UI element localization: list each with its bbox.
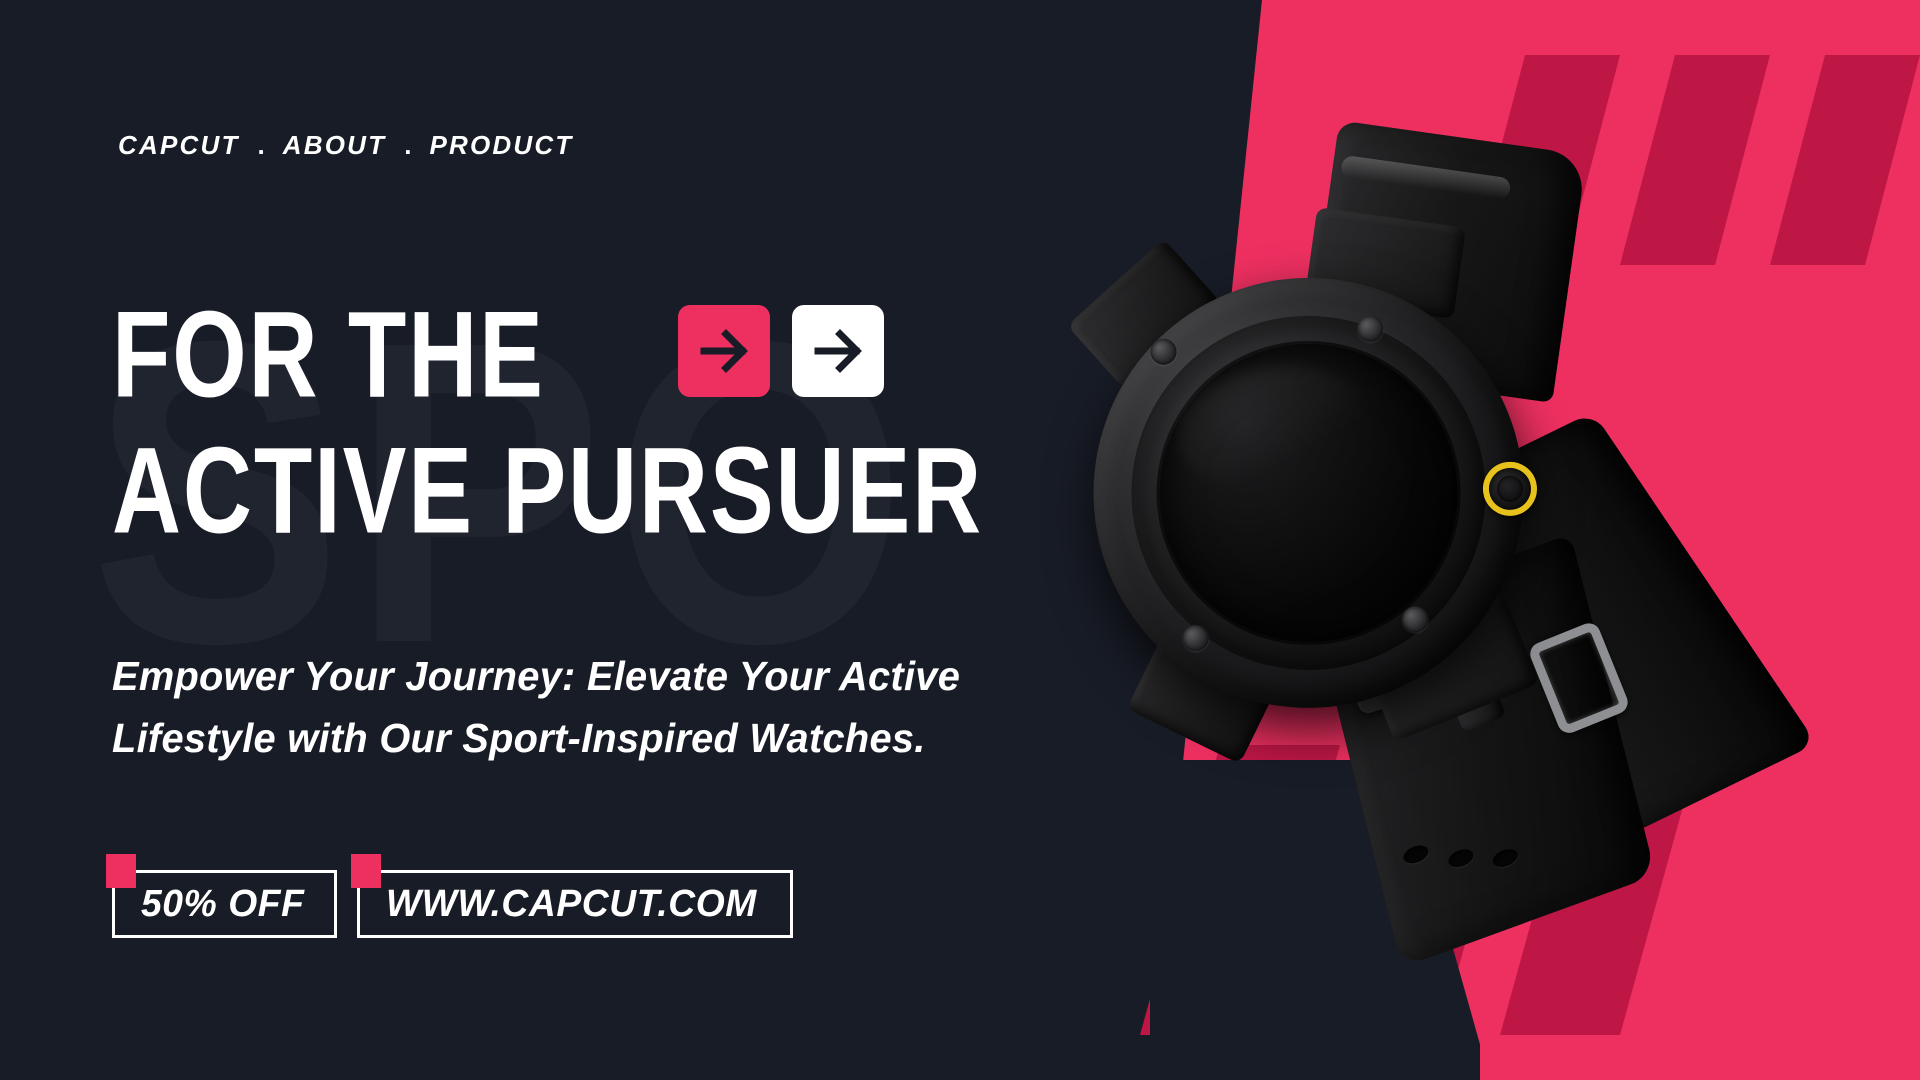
headline-block: FOR THE ACTIVE [112, 300, 1059, 546]
nav-item-product[interactable]: PRODUCT [429, 130, 573, 161]
arrow-button-secondary[interactable] [792, 305, 884, 397]
discount-badge-label: 50% OFF [141, 883, 304, 926]
discount-badge[interactable]: 50% OFF [112, 870, 337, 938]
headline-line-2: ACTIVE PURSUER [112, 426, 983, 556]
arrow-button-group [678, 305, 884, 397]
top-navigation: CAPCUT . ABOUT . PRODUCT [118, 130, 573, 161]
subtitle-line-2: Lifestyle with Our Sport-Inspired Watche… [112, 707, 960, 769]
subtitle-line-1: Empower Your Journey: Elevate Your Activ… [112, 645, 960, 707]
subtitle-block: Empower Your Journey: Elevate Your Activ… [112, 645, 960, 770]
discount-badge-wrapper: 50% OFF [112, 870, 337, 938]
arrow-button-primary[interactable] [678, 305, 770, 397]
arrow-right-icon [698, 325, 750, 377]
website-badge-label: WWW.CAPCUT.COM [386, 883, 757, 926]
website-badge-wrapper: WWW.CAPCUT.COM [357, 870, 793, 938]
website-badge[interactable]: WWW.CAPCUT.COM [357, 870, 793, 938]
badge-corner-marker [106, 854, 136, 888]
nav-item-about[interactable]: ABOUT [283, 130, 386, 161]
arrow-right-icon [812, 325, 864, 377]
badge-group: 50% OFF WWW.CAPCUT.COM [112, 870, 793, 938]
headline-line-1-row: FOR THE [112, 300, 1059, 410]
nav-separator-2: . [386, 130, 429, 161]
promo-banner: SPO CAPCUT . ABOUT . PRODUCT FOR THE [0, 0, 1920, 1080]
product-image-smartwatch [1041, 105, 1840, 955]
badge-corner-marker [351, 854, 381, 888]
headline-line-1: FOR THE [112, 290, 545, 420]
nav-separator-1: . [240, 130, 283, 161]
nav-item-capcut[interactable]: CAPCUT [118, 130, 240, 161]
